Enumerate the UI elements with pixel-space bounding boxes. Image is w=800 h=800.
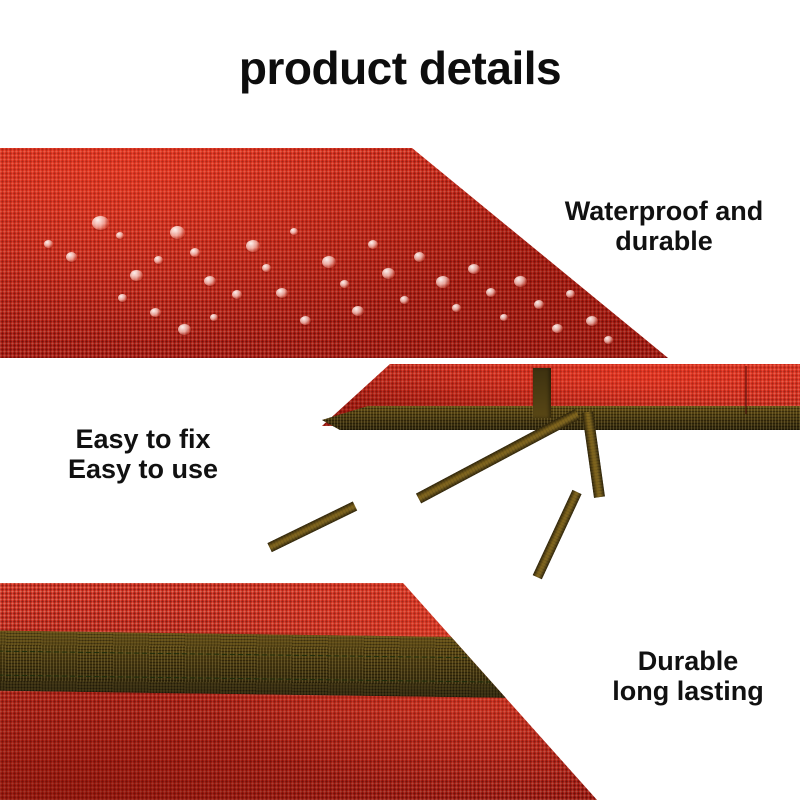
page-title: product details [0, 44, 800, 92]
water-droplet [552, 324, 563, 333]
water-droplet [246, 240, 260, 252]
caption-waterproof: Waterproof and durable [530, 196, 798, 256]
water-droplet [436, 276, 450, 288]
water-droplet [300, 316, 311, 325]
water-droplet [514, 276, 527, 287]
water-droplet [276, 288, 288, 298]
water-droplet [44, 240, 53, 248]
water-droplet [118, 294, 127, 302]
water-droplet [154, 256, 163, 264]
water-droplet [500, 314, 508, 321]
water-droplet [262, 264, 271, 272]
water-droplet [400, 296, 409, 304]
water-droplet [204, 276, 216, 286]
caption-easy-to-fix: Easy to fix Easy to use [18, 424, 268, 484]
reinforced-binding-strip [0, 631, 600, 700]
product-details-infographic: product details [0, 0, 800, 800]
water-droplet [92, 216, 109, 230]
water-droplet [322, 256, 336, 268]
water-droplet [534, 300, 544, 309]
water-droplet [190, 248, 200, 257]
water-droplet [352, 306, 364, 316]
water-droplet [468, 264, 480, 274]
water-droplet [604, 336, 613, 344]
water-droplet [290, 228, 298, 235]
water-droplet [414, 252, 425, 262]
water-droplet [368, 240, 378, 249]
tie-strap-right-tail [533, 490, 582, 579]
water-droplet [116, 232, 124, 239]
water-droplet [150, 308, 161, 317]
water-droplet [178, 324, 191, 335]
water-droplet [170, 226, 185, 239]
water-droplet [210, 314, 218, 321]
tie-strap-left-tail [267, 502, 357, 553]
water-droplet [586, 316, 598, 326]
water-droplet [382, 268, 395, 279]
photo-panel-durable [0, 583, 600, 800]
fabric-seam [745, 366, 747, 414]
caption-durable: Durable long lasting [576, 646, 800, 706]
water-droplet [452, 304, 461, 312]
water-droplet [66, 252, 77, 262]
water-droplet [130, 270, 143, 281]
water-droplet [232, 290, 242, 299]
water-droplet [486, 288, 496, 297]
water-droplet [340, 280, 349, 288]
water-droplet [566, 290, 575, 298]
hem-binding-ties [250, 406, 800, 430]
strap-anchor-tab [533, 368, 551, 418]
